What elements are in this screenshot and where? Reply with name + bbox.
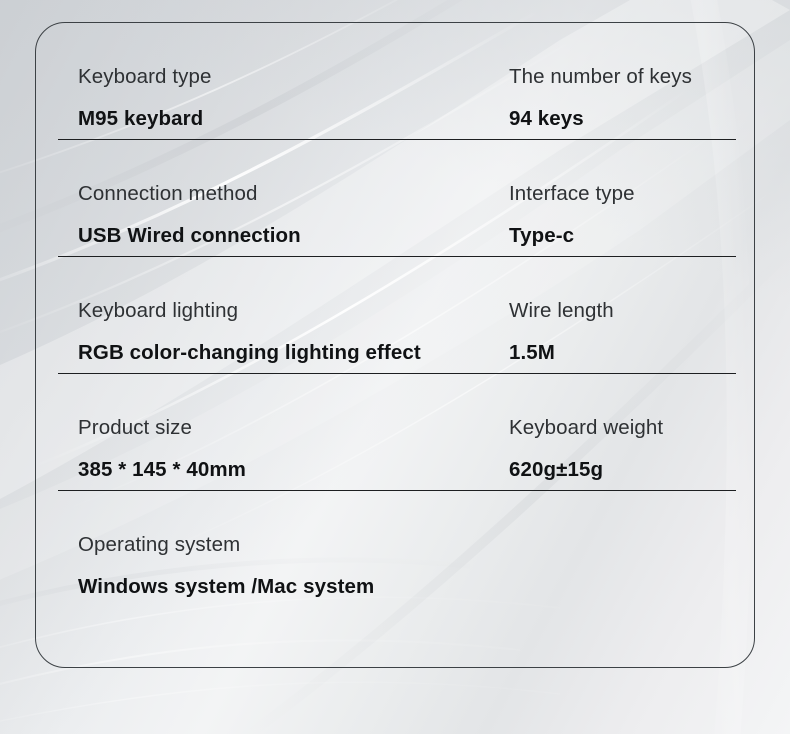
spec-label: Keyboard lighting — [78, 301, 421, 322]
spec-value: M95 keybard — [78, 109, 212, 130]
product-specification-card: Keyboard type M95 keybard The number of … — [35, 22, 755, 668]
spec-value: Windows system /Mac system — [78, 577, 374, 598]
spec-table: Keyboard type M95 keybard The number of … — [36, 23, 756, 611]
spec-cell: Product size 385 * 145 * 40mm — [78, 418, 246, 480]
spec-value: 620g±15g — [509, 460, 663, 481]
spec-label: The number of keys — [509, 67, 692, 88]
spec-value: USB Wired connection — [78, 226, 301, 247]
spec-row: Operating system Windows system /Mac sys… — [36, 491, 756, 611]
spec-cell: The number of keys 94 keys — [509, 67, 692, 129]
spec-label: Product size — [78, 418, 246, 439]
spec-label: Interface type — [509, 184, 635, 205]
spec-cell: Connection method USB Wired connection — [78, 184, 301, 246]
spec-value: 94 keys — [509, 109, 692, 130]
spec-label: Keyboard weight — [509, 418, 663, 439]
spec-label: Wire length — [509, 301, 614, 322]
spec-cell: Operating system Windows system /Mac sys… — [78, 535, 374, 597]
spec-label: Keyboard type — [78, 67, 212, 88]
spec-label: Connection method — [78, 184, 301, 205]
spec-row: Connection method USB Wired connection I… — [36, 140, 756, 257]
spec-value: 385 * 145 * 40mm — [78, 460, 246, 481]
spec-cell: Wire length 1.5M — [509, 301, 614, 363]
spec-value: RGB color-changing lighting effect — [78, 343, 421, 364]
spec-value: 1.5M — [509, 343, 614, 364]
spec-row: Product size 385 * 145 * 40mm Keyboard w… — [36, 374, 756, 491]
spec-row: Keyboard lighting RGB color-changing lig… — [36, 257, 756, 374]
spec-label: Operating system — [78, 535, 374, 556]
spec-cell: Keyboard lighting RGB color-changing lig… — [78, 301, 421, 363]
spec-cell: Keyboard type M95 keybard — [78, 67, 212, 129]
spec-cell: Keyboard weight 620g±15g — [509, 418, 663, 480]
spec-row: Keyboard type M95 keybard The number of … — [36, 23, 756, 140]
spec-cell: Interface type Type-c — [509, 184, 635, 246]
spec-value: Type-c — [509, 226, 635, 247]
